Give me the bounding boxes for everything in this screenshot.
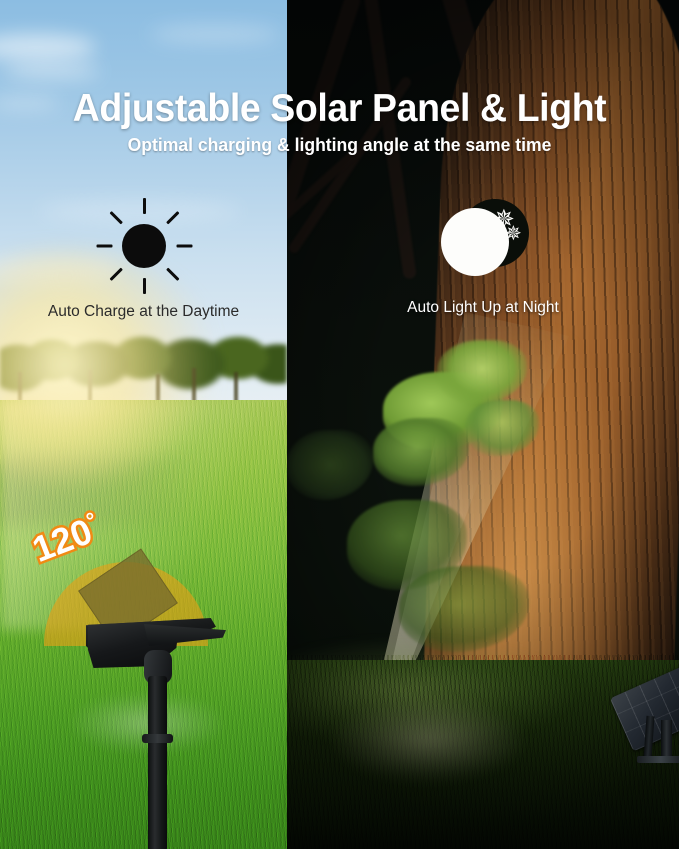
star-icon: ✵ [505, 224, 522, 244]
product-banner: 120° [0, 0, 679, 849]
sun-core [122, 224, 166, 268]
star-icon: ✵ [489, 228, 501, 242]
cloud-wisp [0, 34, 96, 60]
feature-day: Auto Charge at the Daytime [0, 198, 287, 322]
ground-stake-foot [637, 756, 679, 763]
moon-stars-icon: ✵ ✵ ✵ [433, 198, 533, 290]
cloud-wisp [150, 24, 280, 44]
feature-day-label: Auto Charge at the Daytime [0, 302, 287, 322]
solar-post-light-day [86, 614, 236, 849]
cloud-wisp [4, 62, 100, 80]
cloud-wisp [0, 96, 60, 110]
pole-collar [142, 734, 173, 743]
sun-icon [96, 198, 192, 294]
solar-spotlight-night [617, 668, 679, 778]
angle-value-text: 120° [27, 507, 106, 571]
feature-night-label: Auto Light Up at Night [287, 298, 679, 318]
feature-night: ✵ ✵ ✵ Auto Light Up at Night [287, 198, 679, 318]
nighttime-scene [287, 0, 679, 849]
daytime-scene: 120° [0, 0, 287, 849]
product-highlight [72, 694, 222, 752]
mounting-stem [643, 716, 654, 760]
ground-stake-pole [148, 676, 167, 849]
